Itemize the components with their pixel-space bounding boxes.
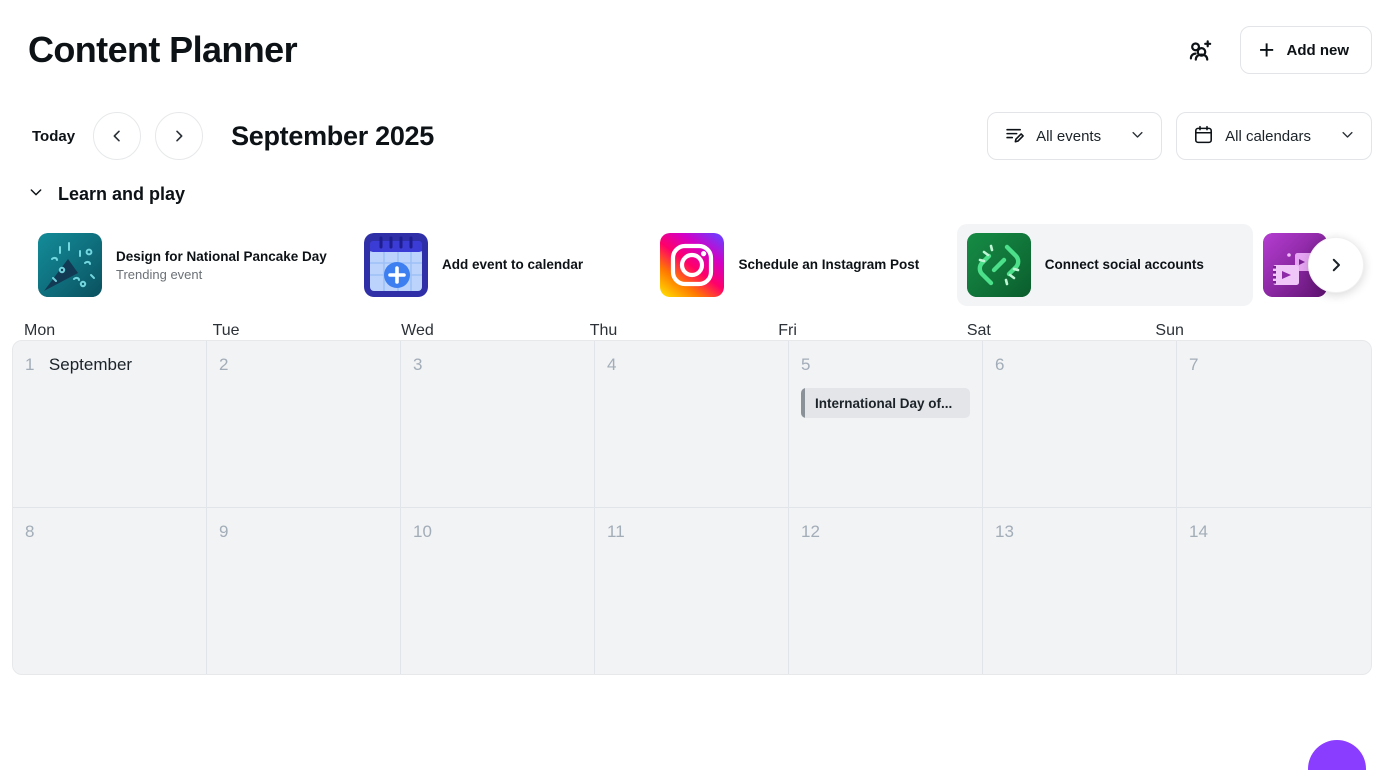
learn-card-pancake-day[interactable]: Design for National Pancake Day Trending… (28, 224, 354, 306)
day-cell-13[interactable]: 13 (983, 508, 1177, 674)
all-calendars-label: All calendars (1225, 128, 1311, 145)
day-cell-9[interactable]: 9 (207, 508, 401, 674)
weekday-tue: Tue (213, 322, 402, 340)
weekday-header: Mon Tue Wed Thu Fri Sat Sun (0, 322, 1400, 340)
calendar-week-row: 8 9 10 11 12 13 14 (13, 507, 1371, 674)
event-chip[interactable]: International Day of... (801, 388, 970, 418)
calendar-grid: 1 September 2 3 4 5 International Day of… (12, 340, 1372, 675)
people-add-icon[interactable] (1180, 30, 1220, 70)
day-number: 6 (995, 355, 1004, 375)
day-cell-3[interactable]: 3 (401, 341, 595, 507)
day-number: 9 (219, 522, 228, 542)
weekday-sat: Sat (967, 322, 1156, 340)
today-button[interactable]: Today (28, 122, 79, 151)
day-number: 2 (219, 355, 228, 375)
day-cell-12[interactable]: 12 (789, 508, 983, 674)
weekday-mon: Mon (24, 322, 213, 340)
learn-card-instagram-post[interactable]: Schedule an Instagram Post (650, 224, 956, 306)
learn-card-title: Design for National Pancake Day (116, 248, 327, 266)
day-number: 12 (801, 522, 820, 542)
next-month-button[interactable] (155, 112, 203, 160)
day-number: 10 (413, 522, 432, 542)
learn-card-title: Add event to calendar (442, 256, 583, 274)
calendar-toolbar: Today September 2025 All events (0, 100, 1400, 172)
day-number: 8 (25, 522, 34, 542)
day-cell-7[interactable]: 7 (1177, 341, 1371, 507)
day-cell-6[interactable]: 6 (983, 341, 1177, 507)
carousel-next-button[interactable] (1308, 237, 1364, 293)
weekday-fri: Fri (778, 322, 967, 340)
chevron-down-icon (1130, 127, 1145, 146)
learn-cards-carousel: Design for National Pancake Day Trending… (28, 224, 1372, 310)
list-pencil-icon (1004, 124, 1025, 149)
day-month-label: September (49, 355, 132, 374)
learn-card-title: Connect social accounts (1045, 256, 1204, 274)
learn-and-play-title: Learn and play (58, 184, 185, 205)
prev-month-button[interactable] (93, 112, 141, 160)
day-number: 5 (801, 355, 810, 375)
chevron-down-icon (28, 184, 44, 205)
all-events-filter[interactable]: All events (987, 112, 1162, 160)
page-title: Content Planner (28, 32, 297, 68)
learn-card-text: Design for National Pancake Day Trending… (116, 248, 327, 283)
all-events-label: All events (1036, 128, 1101, 145)
day-cell-2[interactable]: 2 (207, 341, 401, 507)
calendar-icon (1193, 124, 1214, 149)
confetti-thumb (38, 233, 102, 297)
day-cell-4[interactable]: 4 (595, 341, 789, 507)
day-number: 4 (607, 355, 616, 375)
day-number: 11 (607, 522, 625, 542)
day-cell-5[interactable]: 5 International Day of... (789, 341, 983, 507)
day-number: 1 (25, 355, 34, 375)
calendar-add-thumb (364, 233, 428, 297)
day-cell-1[interactable]: 1 September (13, 341, 207, 507)
day-cell-14[interactable]: 14 (1177, 508, 1371, 674)
day-number: 13 (995, 522, 1014, 542)
current-month-label: September 2025 (231, 121, 434, 152)
link-thumb (967, 233, 1031, 297)
learn-card-title: Schedule an Instagram Post (738, 256, 919, 274)
assistant-fab[interactable] (1308, 740, 1366, 770)
header-actions: + Add new (1180, 26, 1372, 74)
app-header: Content Planner + Add new (0, 0, 1400, 100)
weekday-thu: Thu (590, 322, 779, 340)
learn-and-play-header[interactable]: Learn and play (28, 172, 1372, 216)
event-label: International Day of... (805, 396, 962, 411)
learn-card-connect-social[interactable]: Connect social accounts (957, 224, 1253, 306)
plus-icon: + (1259, 37, 1275, 64)
add-new-button[interactable]: + Add new (1240, 26, 1372, 74)
day-number: 14 (1189, 522, 1208, 542)
add-new-label: Add new (1287, 42, 1350, 59)
instagram-thumb (660, 233, 724, 297)
day-cell-10[interactable]: 10 (401, 508, 595, 674)
calendar-grid-wrapper: 1 September 2 3 4 5 International Day of… (0, 340, 1400, 675)
all-calendars-filter[interactable]: All calendars (1176, 112, 1372, 160)
day-cell-8[interactable]: 8 (13, 508, 207, 674)
learn-card-subtitle: Trending event (116, 267, 327, 282)
day-cell-11[interactable]: 11 (595, 508, 789, 674)
day-number: 7 (1189, 355, 1198, 375)
toolbar-filters: All events All calendars (987, 112, 1372, 160)
learn-and-play-section: Learn and play (0, 172, 1400, 310)
weekday-wed: Wed (401, 322, 590, 340)
chevron-down-icon (1340, 127, 1355, 146)
weekday-sun: Sun (1155, 322, 1344, 340)
learn-card-add-event[interactable]: Add event to calendar (354, 224, 650, 306)
calendar-week-row: 1 September 2 3 4 5 International Day of… (13, 341, 1371, 507)
learn-card-text: Schedule an Instagram Post (738, 256, 919, 274)
learn-card-text: Add event to calendar (442, 256, 583, 274)
learn-card-text: Connect social accounts (1045, 256, 1204, 274)
toolbar-nav-group: Today September 2025 (28, 112, 434, 160)
day-number: 3 (413, 355, 422, 375)
